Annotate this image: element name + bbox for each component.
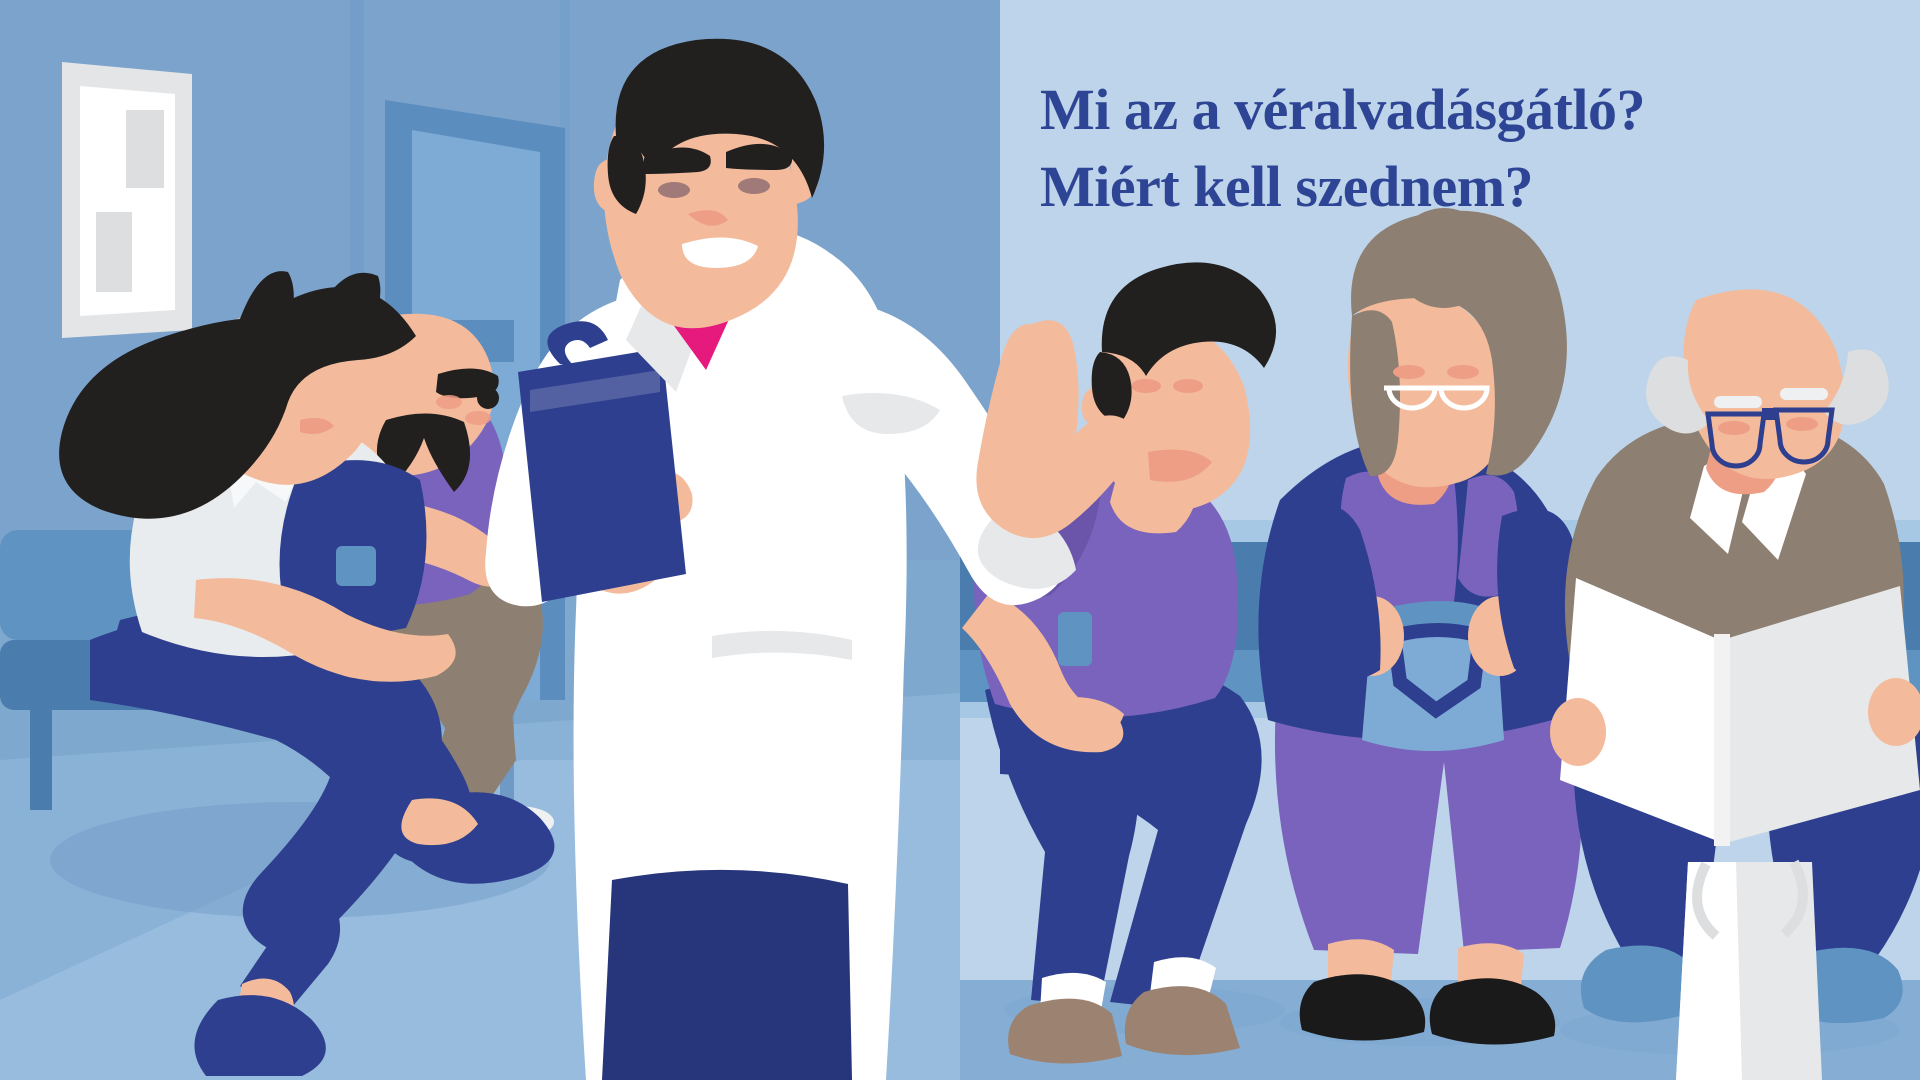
- older-man-glasses-bridge: [1762, 408, 1778, 420]
- shopping-bag: [1676, 862, 1822, 1080]
- young-man-pocket: [1058, 612, 1092, 666]
- poster-block-upper: [126, 110, 164, 188]
- wall-poster: [62, 62, 192, 338]
- older-man-eyebrow-1: [1714, 396, 1762, 408]
- poster-block-lower: [96, 212, 132, 292]
- older-man-eye-1: [1718, 421, 1750, 435]
- bald-man-pupil: [477, 387, 499, 409]
- headline-line-1: Mi az a véralvadásgátló?: [1040, 72, 1860, 149]
- bench-left-leg: [30, 700, 52, 810]
- illustration-canvas: Mi az a véralvadásgátló? Miért kell szed…: [0, 0, 1920, 1080]
- older-woman-eye-1: [1393, 365, 1425, 379]
- newspaper-spine: [1714, 634, 1730, 846]
- bald-man-cheek-2: [465, 411, 491, 425]
- doctor-eye-left: [658, 182, 690, 198]
- older-man-eye-2: [1786, 417, 1818, 431]
- headline-line-2: Miért kell szednem?: [1040, 149, 1860, 226]
- young-man-eye-2: [1173, 379, 1203, 393]
- woman-phone: [336, 546, 376, 586]
- bald-man-cheek-1: [436, 395, 462, 409]
- older-woman-eye-2: [1447, 365, 1479, 379]
- older-man-hand-1: [1550, 698, 1606, 766]
- young-man-eye-1: [1131, 379, 1161, 393]
- older-man-eyebrow-2: [1780, 388, 1828, 400]
- page-title: Mi az a véralvadásgátló? Miért kell szed…: [1040, 72, 1860, 225]
- doctor-eye-right: [738, 178, 770, 194]
